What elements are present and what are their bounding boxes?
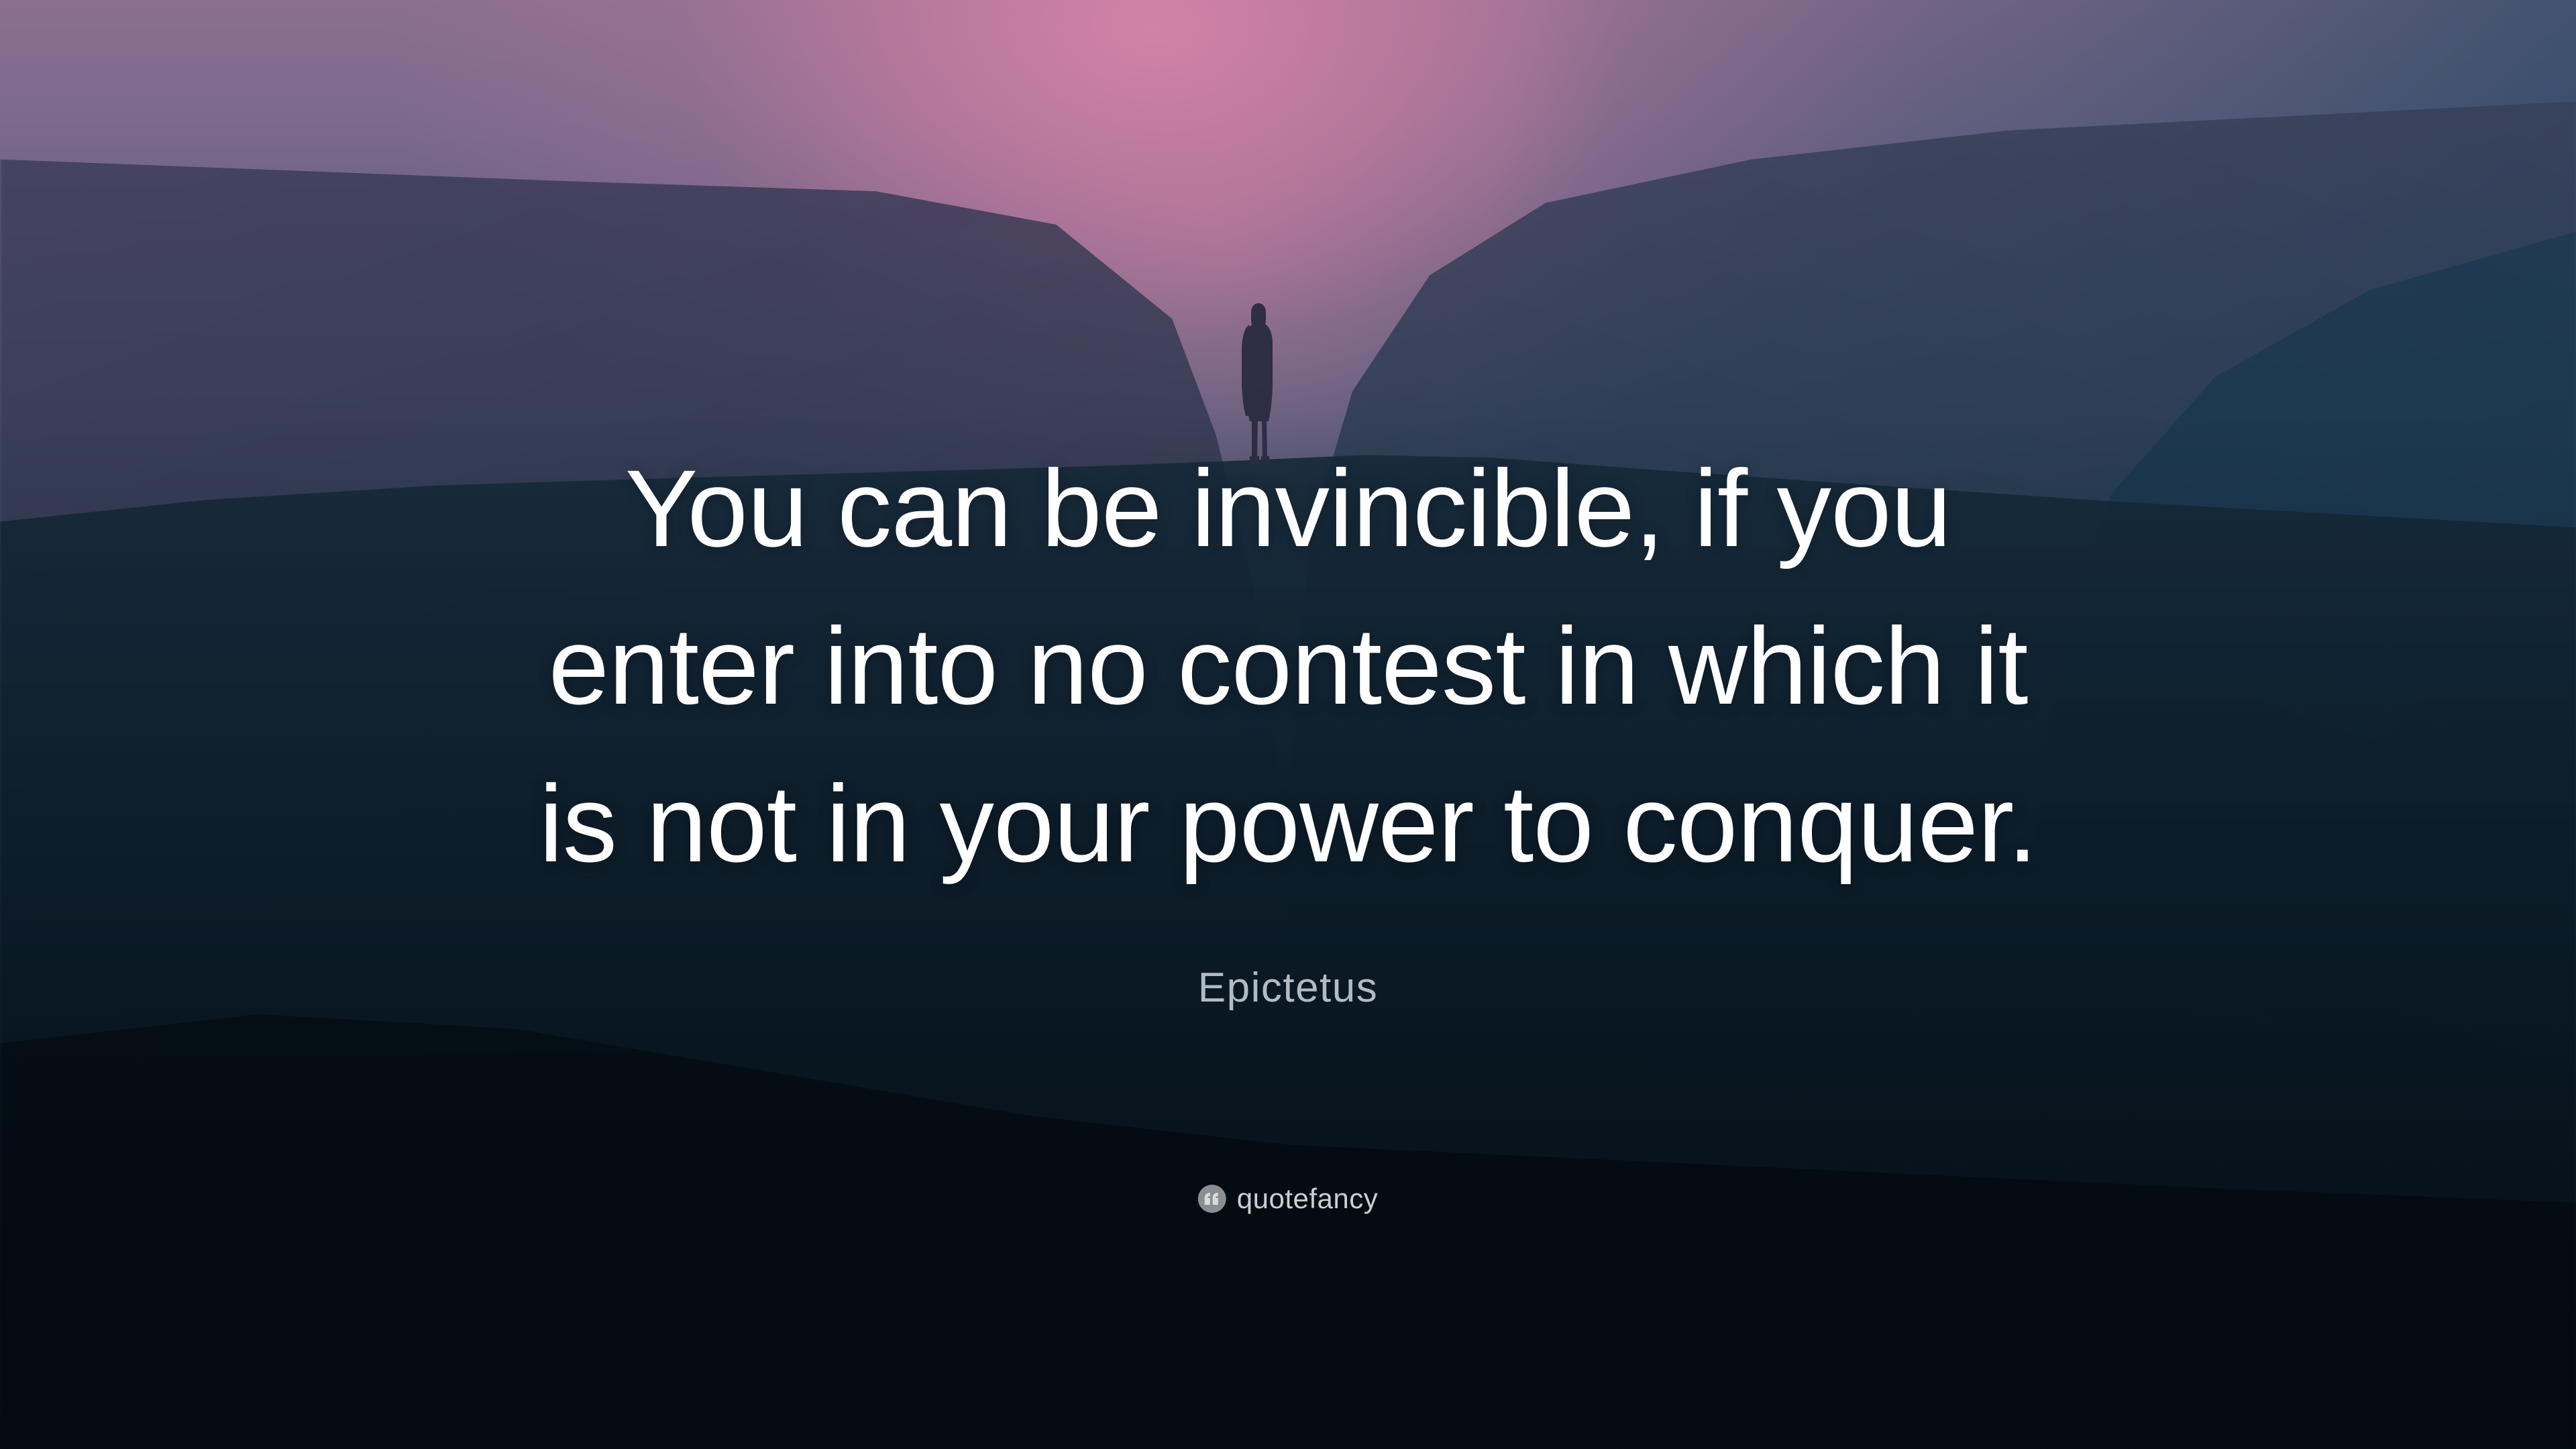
quote-text: You can be invincible, if you enter into… <box>416 429 2160 902</box>
quotefancy-logo[interactable]: quotefancy <box>1198 1185 1379 1213</box>
quote-line-2: enter into no contest in which it <box>416 587 2160 745</box>
quote-content: You can be invincible, if you enter into… <box>0 0 2576 1449</box>
quotefancy-wordmark: quotefancy <box>1237 1185 1379 1213</box>
quote-wallpaper: You can be invincible, if you enter into… <box>0 0 2576 1449</box>
quotation-mark-icon <box>1198 1185 1226 1213</box>
quote-line-1: You can be invincible, if you <box>416 429 2160 587</box>
quote-author: Epictetus <box>1198 962 1379 1014</box>
quote-line-3: is not in your power to conquer. <box>416 745 2160 902</box>
